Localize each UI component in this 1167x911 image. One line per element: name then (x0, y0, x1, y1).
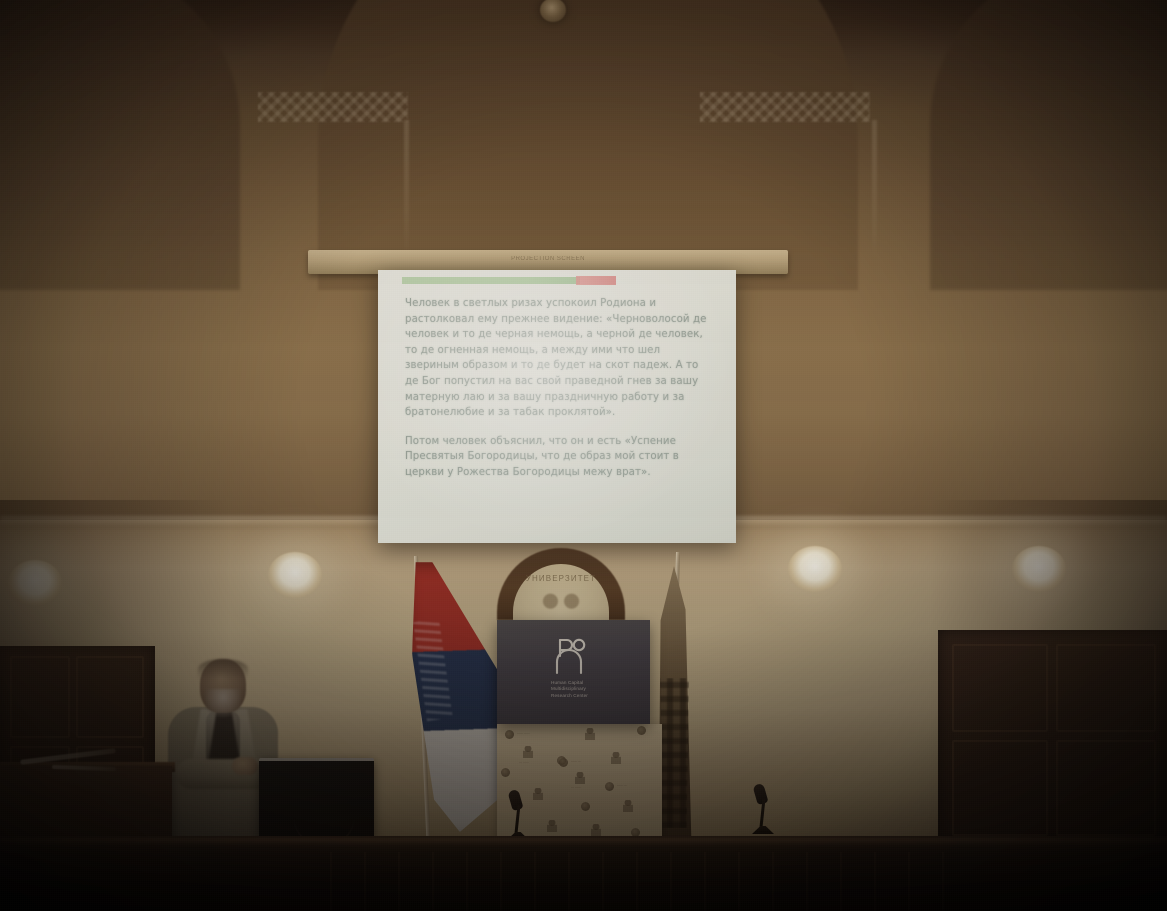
bench-rail (0, 838, 1167, 846)
arch-left (0, 0, 240, 290)
seal-figures-icon (539, 590, 583, 618)
pilaster-right (872, 120, 877, 260)
decorative-frieze-left (258, 92, 408, 122)
lectern-caption: Human Capital Multidisciplinary Research… (551, 680, 647, 699)
wall-sconce-icon (1012, 546, 1066, 592)
slide-text-body: Человек в светлых ризах успокоил Родиона… (405, 296, 713, 494)
wall-sconce-icon (8, 560, 62, 606)
presenter-hairline (198, 659, 248, 679)
presenter-beard (205, 689, 241, 717)
projected-slide: Человек в светлых ризах успокоил Родиона… (378, 270, 736, 543)
presenter-hand (232, 757, 258, 775)
arch-right (930, 0, 1167, 290)
wooden-door-right (938, 630, 1167, 845)
human-capital-research-center-logo-icon (552, 636, 596, 676)
bench-panel-grooves (330, 852, 950, 911)
lectern: Human Capital Multidisciplinary Research… (497, 620, 650, 724)
projection-screen: Человек в светлых ризах успокоил Родиона… (378, 270, 736, 543)
slide-progress-marker (576, 276, 616, 285)
lectern-caption-line-3: Research Center (551, 693, 647, 699)
university-seal: УНИВЕРЗИТЕТ (497, 548, 625, 620)
wall-sconce-icon (788, 546, 842, 592)
pilaster-left (404, 120, 409, 260)
arch-center (318, 0, 858, 290)
slide-progress-bar (402, 277, 580, 284)
seal-text: УНИВЕРЗИТЕТ (513, 574, 609, 583)
wall-sconce-icon (268, 552, 322, 598)
microphone-icon (748, 784, 778, 842)
decorative-frieze-right (700, 92, 870, 122)
lecture-hall-photo: PROJECTION SCREEN Человек в светлых риза… (0, 0, 1167, 911)
valance-label: PROJECTION SCREEN (511, 256, 585, 262)
slide-paragraph: Человек в светлых ризах успокоил Родиона… (405, 296, 713, 421)
slide-paragraph: Потом человек объяснил, что он и есть «У… (405, 434, 713, 481)
